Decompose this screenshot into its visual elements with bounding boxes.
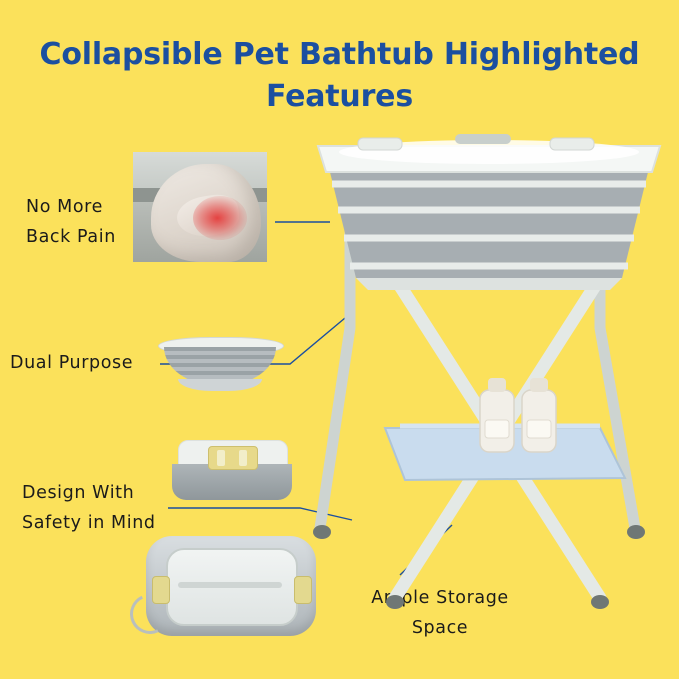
tub-base-shape (178, 379, 262, 391)
bottle-shampoo (480, 378, 514, 452)
safety-latch-photo (172, 440, 292, 502)
latch-icon (208, 446, 258, 470)
tub-center-bar-shape (178, 582, 282, 588)
feature-label-no-more-back-pain: No More Back Pain (26, 192, 116, 252)
pain-highlight-icon (193, 196, 247, 240)
infographic-canvas: Collapsible Pet Bathtub Highlighted Feat… (0, 0, 679, 679)
back-pain-photo (133, 152, 267, 262)
collapsed-tub-top-photo (146, 536, 316, 642)
feature-label-dual-purpose: Dual Purpose (10, 348, 133, 378)
page-title: Collapsible Pet Bathtub Highlighted Feat… (0, 34, 679, 118)
feature-label-design-with-safety-in-mind: Design With Safety in Mind (22, 478, 156, 538)
collapsed-tub-side-photo (158, 335, 282, 395)
product-photo-tub-on-stand (300, 128, 679, 658)
